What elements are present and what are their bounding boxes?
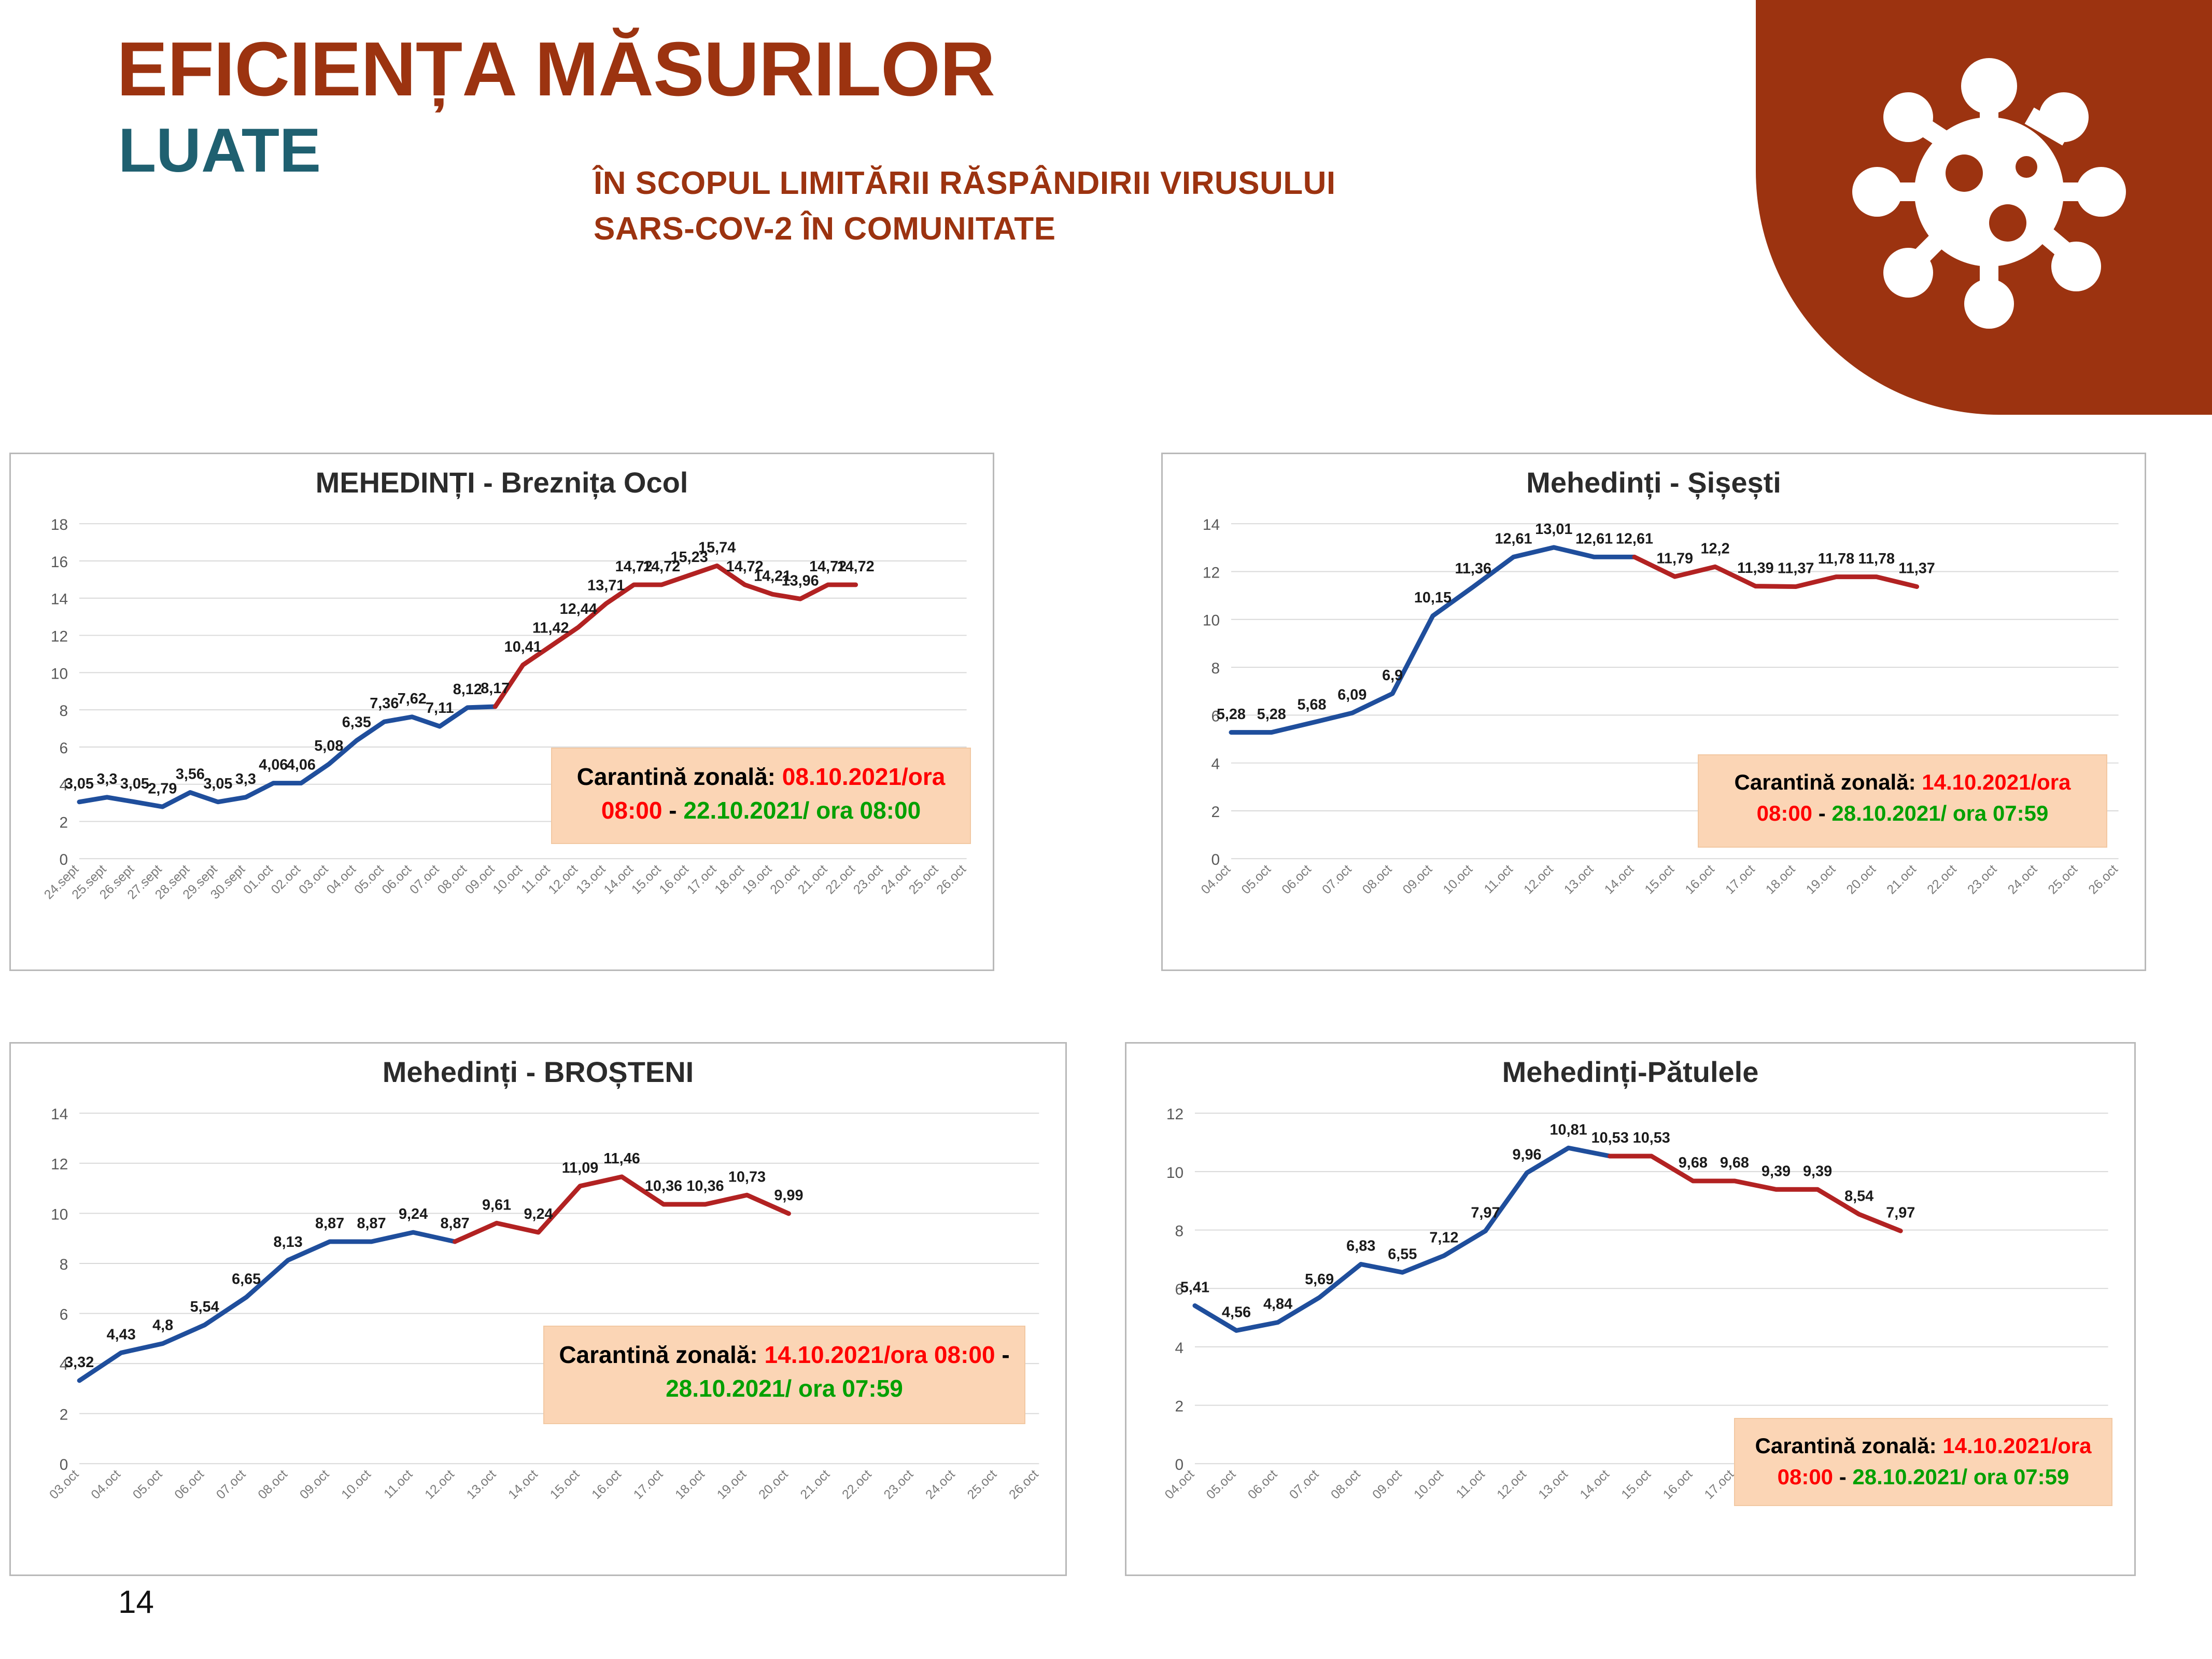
- svg-text:13,71: 13,71: [587, 577, 625, 594]
- svg-text:9,68: 9,68: [1679, 1155, 1708, 1171]
- chart-plot-area: 0246810121404.oct05.oct06.oct07.oct08.oc…: [1163, 454, 2145, 969]
- svg-text:08.oct: 08.oct: [435, 862, 470, 897]
- svg-text:17.oct: 17.oct: [631, 1467, 666, 1502]
- svg-text:4,8: 4,8: [152, 1317, 173, 1334]
- svg-text:23.oct: 23.oct: [1965, 862, 1999, 897]
- svg-text:0: 0: [60, 1456, 68, 1473]
- svg-text:26.oct: 26.oct: [2086, 862, 2121, 897]
- svg-text:16.oct: 16.oct: [1683, 862, 1717, 897]
- svg-text:12,2: 12,2: [1701, 540, 1730, 557]
- callout-end: 28.10.2021/ ora 07:59: [1852, 1465, 2069, 1489]
- svg-text:17.oct: 17.oct: [1723, 862, 1758, 897]
- callout-dash: -: [1839, 1465, 1847, 1489]
- svg-text:7,11: 7,11: [426, 700, 454, 716]
- svg-text:8,54: 8,54: [1844, 1188, 1873, 1204]
- svg-text:01.oct: 01.oct: [241, 862, 276, 897]
- svg-text:03.oct: 03.oct: [297, 862, 331, 897]
- page-title: EFICIENȚA MĂSURILOR: [117, 31, 995, 108]
- svg-text:08.oct: 08.oct: [1329, 1467, 1363, 1502]
- svg-text:3,56: 3,56: [176, 766, 205, 783]
- svg-text:26.oct: 26.oct: [934, 862, 969, 897]
- svg-text:2: 2: [1175, 1398, 1184, 1415]
- svg-text:07.oct: 07.oct: [214, 1467, 248, 1502]
- svg-text:12.oct: 12.oct: [1495, 1467, 1529, 1502]
- svg-text:4,06: 4,06: [287, 757, 316, 774]
- svg-text:24.oct: 24.oct: [879, 862, 913, 897]
- svg-text:10,53: 10,53: [1633, 1130, 1670, 1146]
- subtitle-line-1: ÎN SCOPUL LIMITĂRII RĂSPÂNDIRII VIRUSULU…: [594, 161, 1336, 206]
- svg-text:4,84: 4,84: [1263, 1296, 1292, 1313]
- svg-text:9,24: 9,24: [524, 1206, 553, 1222]
- svg-text:8: 8: [60, 1256, 68, 1273]
- svg-text:25.oct: 25.oct: [2046, 862, 2080, 897]
- svg-text:10: 10: [1203, 612, 1220, 629]
- svg-text:11.oct: 11.oct: [1482, 862, 1516, 896]
- svg-text:6,35: 6,35: [342, 714, 371, 731]
- callout-dash: -: [1002, 1341, 1009, 1368]
- svg-text:5,28: 5,28: [1217, 706, 1246, 723]
- svg-text:21.oct: 21.oct: [1884, 862, 1919, 897]
- svg-text:13,96: 13,96: [782, 572, 819, 589]
- svg-text:15.oct: 15.oct: [547, 1467, 582, 1502]
- callout-label: Carantină zonală:: [1755, 1433, 1937, 1458]
- svg-text:17.oct: 17.oct: [1702, 1467, 1737, 1502]
- svg-text:8,17: 8,17: [481, 680, 510, 697]
- svg-text:12: 12: [1166, 1106, 1184, 1123]
- callout-label: Carantină zonală:: [1735, 770, 1916, 794]
- svg-text:16.oct: 16.oct: [657, 862, 692, 897]
- svg-text:04.oct: 04.oct: [324, 862, 359, 897]
- svg-text:19.oct: 19.oct: [714, 1467, 749, 1502]
- svg-text:9,39: 9,39: [1762, 1163, 1791, 1179]
- svg-text:9,61: 9,61: [482, 1197, 511, 1213]
- svg-text:15.oct: 15.oct: [1619, 1467, 1654, 1502]
- chart-breznita-ocol: MEHEDINȚI - Breznița Ocol 02468101214161…: [9, 453, 994, 971]
- svg-text:07.oct: 07.oct: [1320, 862, 1355, 897]
- svg-text:20.oct: 20.oct: [1844, 862, 1879, 897]
- svg-text:10,53: 10,53: [1591, 1130, 1629, 1146]
- svg-text:5,68: 5,68: [1297, 696, 1326, 713]
- svg-text:09.oct: 09.oct: [1370, 1467, 1405, 1502]
- svg-text:3,32: 3,32: [65, 1354, 94, 1371]
- callout-dash: -: [1819, 801, 1826, 825]
- svg-text:09.oct: 09.oct: [1400, 862, 1435, 897]
- svg-text:4,06: 4,06: [259, 757, 288, 774]
- svg-text:5,28: 5,28: [1257, 706, 1286, 723]
- svg-text:05.oct: 05.oct: [1204, 1467, 1238, 1502]
- svg-text:21.oct: 21.oct: [798, 1467, 833, 1502]
- page-number: 14: [118, 1584, 154, 1621]
- subtitle-line-2: SARS-COV-2 ÎN COMUNITATE: [594, 206, 1336, 252]
- callout-label: Carantină zonală:: [577, 763, 776, 790]
- svg-text:13.oct: 13.oct: [464, 1467, 499, 1502]
- svg-text:19.oct: 19.oct: [1804, 862, 1838, 897]
- svg-text:4: 4: [1175, 1340, 1184, 1357]
- svg-text:06.oct: 06.oct: [379, 862, 414, 897]
- callout-start: 14.10.2021/ora 08:00: [765, 1341, 995, 1368]
- coronavirus-icon: [1834, 36, 2145, 347]
- svg-text:6,65: 6,65: [232, 1271, 261, 1287]
- svg-text:8,87: 8,87: [315, 1215, 344, 1232]
- svg-text:14.oct: 14.oct: [1602, 862, 1637, 897]
- svg-text:12,61: 12,61: [1575, 530, 1613, 547]
- svg-text:06.oct: 06.oct: [1279, 862, 1314, 897]
- svg-text:11,78: 11,78: [1858, 551, 1895, 567]
- svg-text:14,72: 14,72: [837, 558, 875, 575]
- svg-text:09.oct: 09.oct: [463, 862, 498, 897]
- svg-text:11,37: 11,37: [1778, 560, 1814, 577]
- svg-text:8,87: 8,87: [440, 1215, 469, 1232]
- svg-text:9,96: 9,96: [1512, 1146, 1541, 1163]
- svg-text:12.oct: 12.oct: [1521, 862, 1556, 897]
- svg-text:11.oct: 11.oct: [1454, 1467, 1488, 1501]
- svg-text:20.oct: 20.oct: [756, 1467, 791, 1502]
- svg-text:2: 2: [60, 1407, 68, 1424]
- svg-text:8,13: 8,13: [274, 1234, 303, 1250]
- svg-text:06.oct: 06.oct: [172, 1467, 207, 1502]
- svg-text:22.oct: 22.oct: [823, 862, 858, 897]
- svg-text:10.oct: 10.oct: [1412, 1467, 1446, 1502]
- svg-text:06.oct: 06.oct: [1245, 1467, 1280, 1502]
- page-subtitle-luate: LUATE: [118, 119, 321, 181]
- callout-label: Carantină zonală:: [559, 1341, 757, 1368]
- svg-text:13.oct: 13.oct: [1561, 862, 1596, 897]
- svg-text:19.oct: 19.oct: [740, 862, 774, 897]
- svg-text:0: 0: [1175, 1456, 1184, 1473]
- svg-text:10,36: 10,36: [645, 1178, 682, 1194]
- svg-text:7,62: 7,62: [398, 691, 427, 707]
- coronavirus-badge: [1756, 0, 2212, 415]
- svg-text:2: 2: [59, 814, 68, 831]
- callout-end: 28.10.2021/ ora 07:59: [666, 1375, 903, 1402]
- svg-text:12: 12: [51, 628, 68, 645]
- svg-text:6: 6: [59, 740, 68, 757]
- callout-end: 28.10.2021/ ora 07:59: [1831, 801, 2048, 825]
- svg-text:8: 8: [1211, 660, 1220, 677]
- svg-text:10,81: 10,81: [1550, 1121, 1587, 1138]
- svg-text:12: 12: [1203, 564, 1220, 581]
- svg-text:8: 8: [59, 702, 68, 720]
- svg-text:07.oct: 07.oct: [1287, 1467, 1321, 1502]
- svg-text:16.oct: 16.oct: [1660, 1467, 1695, 1502]
- svg-text:02.oct: 02.oct: [269, 862, 303, 897]
- svg-text:07.oct: 07.oct: [407, 862, 442, 897]
- chart-sisesti: Mehedinți - Șișești 0246810121404.oct05.…: [1161, 453, 2146, 971]
- svg-text:11,42: 11,42: [532, 620, 569, 637]
- svg-text:6,9: 6,9: [1382, 667, 1403, 684]
- svg-text:04.oct: 04.oct: [89, 1467, 123, 1502]
- svg-text:25.oct: 25.oct: [906, 862, 941, 897]
- svg-text:24.oct: 24.oct: [2005, 862, 2040, 897]
- svg-text:18: 18: [51, 516, 68, 533]
- svg-text:6,55: 6,55: [1388, 1246, 1417, 1262]
- svg-text:14: 14: [1203, 516, 1220, 533]
- quarantine-callout-3: Carantină zonală: 14.10.2021/ora 08:00 -…: [543, 1326, 1025, 1424]
- svg-text:23.oct: 23.oct: [881, 1467, 916, 1502]
- quarantine-callout-4: Carantină zonală: 14.10.2021/ora 08:00 -…: [1734, 1418, 2112, 1506]
- svg-text:11.oct: 11.oct: [382, 1467, 416, 1501]
- svg-text:05.oct: 05.oct: [352, 862, 387, 897]
- page-subtitle: ÎN SCOPUL LIMITĂRII RĂSPÂNDIRII VIRUSULU…: [594, 161, 1336, 252]
- svg-text:5,69: 5,69: [1305, 1271, 1334, 1288]
- svg-text:12.oct: 12.oct: [546, 862, 581, 897]
- quarantine-callout-1: Carantină zonală: 08.10.2021/ora 08:00 -…: [551, 748, 971, 844]
- quarantine-callout-2: Carantină zonală: 14.10.2021/ora 08:00 -…: [1698, 754, 2107, 848]
- svg-text:10: 10: [51, 1206, 68, 1223]
- svg-text:11,79: 11,79: [1656, 550, 1693, 567]
- svg-text:15,74: 15,74: [698, 539, 736, 556]
- svg-text:09.oct: 09.oct: [297, 1467, 332, 1502]
- svg-text:14.oct: 14.oct: [506, 1467, 541, 1502]
- svg-text:4: 4: [1211, 756, 1220, 773]
- chart-plot-area: 0246810121403.oct04.oct05.oct06.oct07.oc…: [11, 1044, 1065, 1574]
- callout-end: 22.10.2021/ ora 08:00: [683, 797, 921, 824]
- svg-text:11,36: 11,36: [1455, 560, 1491, 577]
- svg-text:8: 8: [1175, 1222, 1184, 1240]
- svg-text:11,37: 11,37: [1898, 560, 1935, 577]
- svg-text:4,43: 4,43: [107, 1326, 136, 1343]
- svg-text:6,83: 6,83: [1346, 1238, 1375, 1255]
- svg-text:24.oct: 24.oct: [923, 1467, 958, 1502]
- svg-text:6: 6: [60, 1306, 68, 1323]
- svg-text:4,56: 4,56: [1222, 1304, 1251, 1321]
- svg-text:10: 10: [1166, 1164, 1184, 1182]
- svg-text:12,61: 12,61: [1616, 530, 1653, 547]
- svg-text:17.oct: 17.oct: [684, 862, 719, 897]
- svg-text:9,24: 9,24: [399, 1206, 428, 1222]
- svg-text:15.oct: 15.oct: [629, 862, 664, 897]
- svg-text:5,54: 5,54: [190, 1299, 219, 1315]
- svg-text:7,36: 7,36: [370, 695, 399, 712]
- svg-text:12,44: 12,44: [560, 601, 597, 617]
- svg-text:16: 16: [51, 554, 68, 571]
- svg-text:9,99: 9,99: [774, 1187, 803, 1204]
- svg-text:3,3: 3,3: [96, 771, 117, 788]
- svg-text:9,39: 9,39: [1803, 1163, 1832, 1179]
- svg-text:3,05: 3,05: [120, 776, 149, 792]
- svg-text:22.oct: 22.oct: [840, 1467, 875, 1502]
- svg-text:3,05: 3,05: [65, 776, 94, 792]
- svg-text:18.oct: 18.oct: [673, 1467, 708, 1502]
- svg-text:0: 0: [59, 851, 68, 868]
- svg-text:20.oct: 20.oct: [768, 862, 802, 897]
- svg-text:13.oct: 13.oct: [1536, 1467, 1571, 1502]
- svg-text:22.oct: 22.oct: [1925, 862, 1960, 897]
- svg-text:12: 12: [51, 1156, 68, 1173]
- svg-text:10.oct: 10.oct: [490, 862, 525, 897]
- svg-text:0: 0: [1211, 851, 1220, 868]
- svg-text:13.oct: 13.oct: [574, 862, 609, 897]
- svg-text:7,97: 7,97: [1886, 1204, 1915, 1221]
- svg-text:21.oct: 21.oct: [795, 862, 830, 897]
- svg-text:5,08: 5,08: [314, 738, 343, 754]
- svg-text:9,68: 9,68: [1720, 1155, 1749, 1171]
- svg-text:26.oct: 26.oct: [1007, 1467, 1041, 1502]
- svg-text:05.oct: 05.oct: [130, 1467, 165, 1502]
- svg-text:18.oct: 18.oct: [712, 862, 747, 897]
- svg-text:3,05: 3,05: [203, 776, 232, 792]
- svg-text:10.oct: 10.oct: [339, 1467, 374, 1502]
- svg-text:11,09: 11,09: [562, 1160, 599, 1176]
- svg-text:8,12: 8,12: [453, 681, 482, 698]
- svg-text:08.oct: 08.oct: [256, 1467, 290, 1502]
- svg-text:14: 14: [51, 1106, 68, 1123]
- svg-text:2: 2: [1211, 804, 1220, 821]
- svg-text:16.oct: 16.oct: [589, 1467, 624, 1502]
- svg-text:23.oct: 23.oct: [851, 862, 885, 897]
- svg-text:25.oct: 25.oct: [965, 1467, 999, 1502]
- svg-text:12,61: 12,61: [1495, 530, 1532, 547]
- svg-text:10.oct: 10.oct: [1441, 862, 1475, 897]
- svg-text:10,36: 10,36: [686, 1178, 724, 1194]
- svg-text:3,3: 3,3: [235, 771, 256, 788]
- chart-plot-area: 02468101214161824.sept25.sept26.sept27.s…: [11, 454, 993, 969]
- svg-text:14: 14: [51, 591, 68, 608]
- slide-header: EFICIENȚA MĂSURILOR LUATE ÎN SCOPUL LIMI…: [0, 0, 2212, 425]
- svg-text:8,87: 8,87: [357, 1215, 386, 1232]
- svg-text:11,78: 11,78: [1818, 551, 1855, 567]
- svg-text:12.oct: 12.oct: [422, 1467, 457, 1502]
- svg-text:7,97: 7,97: [1471, 1204, 1500, 1221]
- svg-text:7,12: 7,12: [1429, 1229, 1458, 1246]
- svg-text:15.oct: 15.oct: [1642, 862, 1677, 897]
- svg-text:11,39: 11,39: [1737, 560, 1774, 577]
- svg-text:18.oct: 18.oct: [1763, 862, 1798, 897]
- svg-text:10: 10: [51, 665, 68, 682]
- svg-text:10,15: 10,15: [1414, 589, 1452, 606]
- svg-text:10,73: 10,73: [728, 1169, 766, 1185]
- svg-text:14.oct: 14.oct: [601, 862, 636, 897]
- svg-text:13,01: 13,01: [1535, 521, 1572, 538]
- svg-text:6,09: 6,09: [1337, 686, 1366, 703]
- svg-text:14.oct: 14.oct: [1577, 1467, 1612, 1502]
- svg-text:2,79: 2,79: [148, 780, 177, 797]
- svg-text:05.oct: 05.oct: [1239, 862, 1274, 897]
- svg-text:5,41: 5,41: [1180, 1280, 1209, 1296]
- svg-text:11,46: 11,46: [603, 1150, 640, 1167]
- svg-text:08.oct: 08.oct: [1360, 862, 1394, 897]
- chart-brosteni: Mehedinți - BROȘTENI 0246810121403.oct04…: [9, 1042, 1067, 1576]
- callout-dash: -: [669, 797, 677, 824]
- svg-text:10,41: 10,41: [504, 639, 542, 655]
- svg-text:11.oct: 11.oct: [519, 862, 553, 896]
